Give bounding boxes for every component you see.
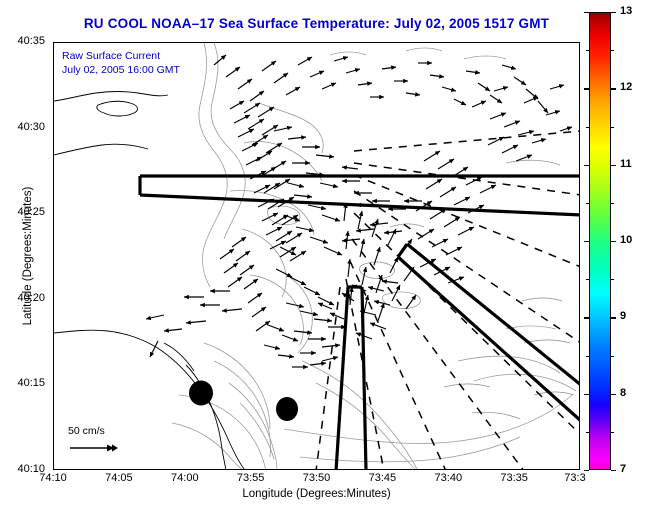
x-tick-label: 73:55	[237, 472, 265, 484]
x-tick-label: 74:05	[105, 472, 133, 484]
colorbar-tick	[611, 88, 616, 89]
annotation-line-2: July 02, 2005 16:00 GMT	[62, 63, 180, 77]
colorbar-tick	[584, 317, 589, 318]
colorbar-minor-tick	[611, 127, 614, 128]
colorbar-tick	[611, 241, 616, 242]
colorbar-tick	[611, 165, 616, 166]
station-marker	[189, 381, 213, 406]
sst-current-map	[54, 43, 580, 470]
map-plot-area[interactable]: Raw Surface Current July 02, 2005 16:00 …	[53, 42, 580, 470]
colorbar-minor-tick	[586, 356, 589, 357]
colorbar-tick-label: 11	[620, 158, 632, 170]
colorbar-gradient	[589, 12, 611, 470]
x-tick-label: 73:50	[303, 472, 331, 484]
colorbar-minor-tick	[611, 203, 614, 204]
y-tick-label: 40:35	[0, 35, 45, 47]
colorbar-minor-tick	[586, 279, 589, 280]
station-marker	[276, 397, 298, 421]
coastline	[54, 92, 246, 471]
x-tick-label: 73:45	[369, 472, 397, 484]
colorbar-tick	[584, 470, 589, 471]
y-axis-title: Latitude (Degrees:Minutes)	[22, 156, 34, 356]
x-tick-label: 73:35	[500, 472, 528, 484]
x-tick-label: 74:10	[39, 472, 67, 484]
y-tick-label: 40:15	[0, 377, 45, 389]
vector-scale-bar: 50 cm/s	[60, 425, 170, 457]
colorbar-minor-tick	[586, 50, 589, 51]
colorbar-tick	[584, 12, 589, 13]
colorbar-minor-tick	[611, 50, 614, 51]
page-title: RU COOL NOAA–17 Sea Surface Temperature:…	[53, 16, 580, 31]
y-tick-label: 40:30	[0, 121, 45, 133]
colorbar-tick-label: 12	[620, 81, 632, 93]
colorbar-tick-label: 7	[620, 463, 626, 475]
scale-bar-arrow-icon	[68, 439, 138, 457]
colorbar[interactable]: 13 12 11 10 9 8 7	[589, 12, 611, 470]
colorbar-tick-label: 10	[620, 234, 632, 246]
colorbar-tick	[611, 394, 616, 395]
colorbar-tick	[584, 165, 589, 166]
x-tick-label: 74:00	[171, 472, 199, 484]
colorbar-tick-label: 13	[620, 5, 632, 17]
x-axis-title: Longitude (Degrees:Minutes)	[53, 488, 580, 500]
scale-bar-label: 50 cm/s	[60, 425, 170, 437]
colorbar-tick-label: 8	[620, 387, 626, 399]
x-tick-label: 73:3	[564, 472, 585, 484]
colorbar-minor-tick	[611, 279, 614, 280]
colorbar-tick-label: 9	[620, 310, 626, 322]
colorbar-minor-tick	[611, 356, 614, 357]
annotation-text: Raw Surface Current July 02, 2005 16:00 …	[62, 49, 180, 77]
y-axis-ticks: 40:35 40:30 40:25 40:20 40:15 40:10 Lati…	[0, 42, 51, 470]
colorbar-tick	[611, 12, 616, 13]
colorbar-tick	[584, 394, 589, 395]
annotation-line-1: Raw Surface Current	[62, 49, 180, 63]
colorbar-tick	[584, 88, 589, 89]
colorbar-minor-tick	[611, 432, 614, 433]
x-tick-label: 73:40	[435, 472, 463, 484]
colorbar-minor-tick	[586, 127, 589, 128]
colorbar-tick	[584, 241, 589, 242]
colorbar-tick	[611, 470, 616, 471]
colorbar-tick	[611, 317, 616, 318]
figure-canvas: RU COOL NOAA–17 Sea Surface Temperature:…	[0, 0, 651, 515]
colorbar-minor-tick	[586, 432, 589, 433]
radar-station-markers	[189, 381, 298, 422]
colorbar-minor-tick	[586, 203, 589, 204]
